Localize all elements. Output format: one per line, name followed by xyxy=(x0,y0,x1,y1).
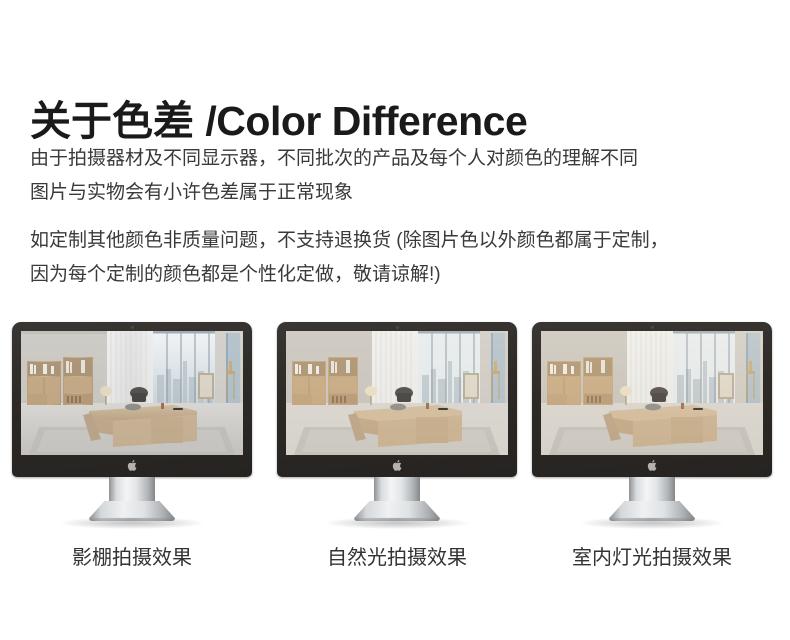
monitor-bezel xyxy=(277,322,517,477)
stand-neck xyxy=(629,477,675,503)
monitor-screen xyxy=(541,331,763,455)
monitor-comparison-row xyxy=(0,322,790,522)
monitor-indoor-light xyxy=(532,322,772,522)
paragraph-2-line-1: 如定制其他颜色非质量问题，不支持退换货 (除图片色以外颜色都属于定制， xyxy=(30,224,770,258)
apple-logo-icon xyxy=(392,459,403,472)
apple-logo-icon xyxy=(127,459,138,472)
monitor-bezel xyxy=(532,322,772,477)
disclaimer-paragraph-1: 由于拍摄器材及不同显示器，不同批次的产品及每个人对颜色的理解不同 图片与实物会有… xyxy=(30,142,770,210)
office-interior-image xyxy=(286,331,508,455)
caption-natural-light: 自然光拍摄效果 xyxy=(277,545,517,571)
caption-studio: 影棚拍摄效果 xyxy=(12,545,252,571)
monitor-stand xyxy=(532,477,772,522)
monitor-bezel xyxy=(12,322,252,477)
page-title: 关于色差 /Color Difference xyxy=(30,97,527,145)
page-title-zh: 关于色差 xyxy=(30,98,194,144)
caption-indoor-light: 室内灯光拍摄效果 xyxy=(532,545,772,571)
color-difference-page: 关于色差 /Color Difference 由于拍摄器材及不同显示器，不同批次… xyxy=(0,0,790,640)
monitor-natural-light xyxy=(277,322,517,522)
office-interior-image xyxy=(541,331,763,455)
apple-logo-icon xyxy=(647,459,658,472)
paragraph-1-line-1: 由于拍摄器材及不同显示器，不同批次的产品及每个人对颜色的理解不同 xyxy=(30,142,770,176)
monitor-stand xyxy=(12,477,252,522)
monitor-screen xyxy=(286,331,508,455)
monitor-stand xyxy=(277,477,517,522)
paragraph-1-line-2: 图片与实物会有小许色差属于正常现象 xyxy=(30,176,770,210)
stand-neck xyxy=(109,477,155,503)
office-interior-image xyxy=(21,331,243,455)
monitor-screen xyxy=(21,331,243,455)
monitor-studio xyxy=(12,322,252,522)
stand-shadow xyxy=(325,517,469,529)
stand-neck xyxy=(374,477,420,503)
stand-shadow xyxy=(580,517,724,529)
disclaimer-paragraph-2: 如定制其他颜色非质量问题，不支持退换货 (除图片色以外颜色都属于定制， 因为每个… xyxy=(30,224,770,292)
stand-shadow xyxy=(60,517,204,529)
paragraph-2-line-2: 因为每个定制的颜色都是个性化定做，敬请谅解!) xyxy=(30,258,770,292)
page-title-en: /Color Difference xyxy=(205,98,527,144)
